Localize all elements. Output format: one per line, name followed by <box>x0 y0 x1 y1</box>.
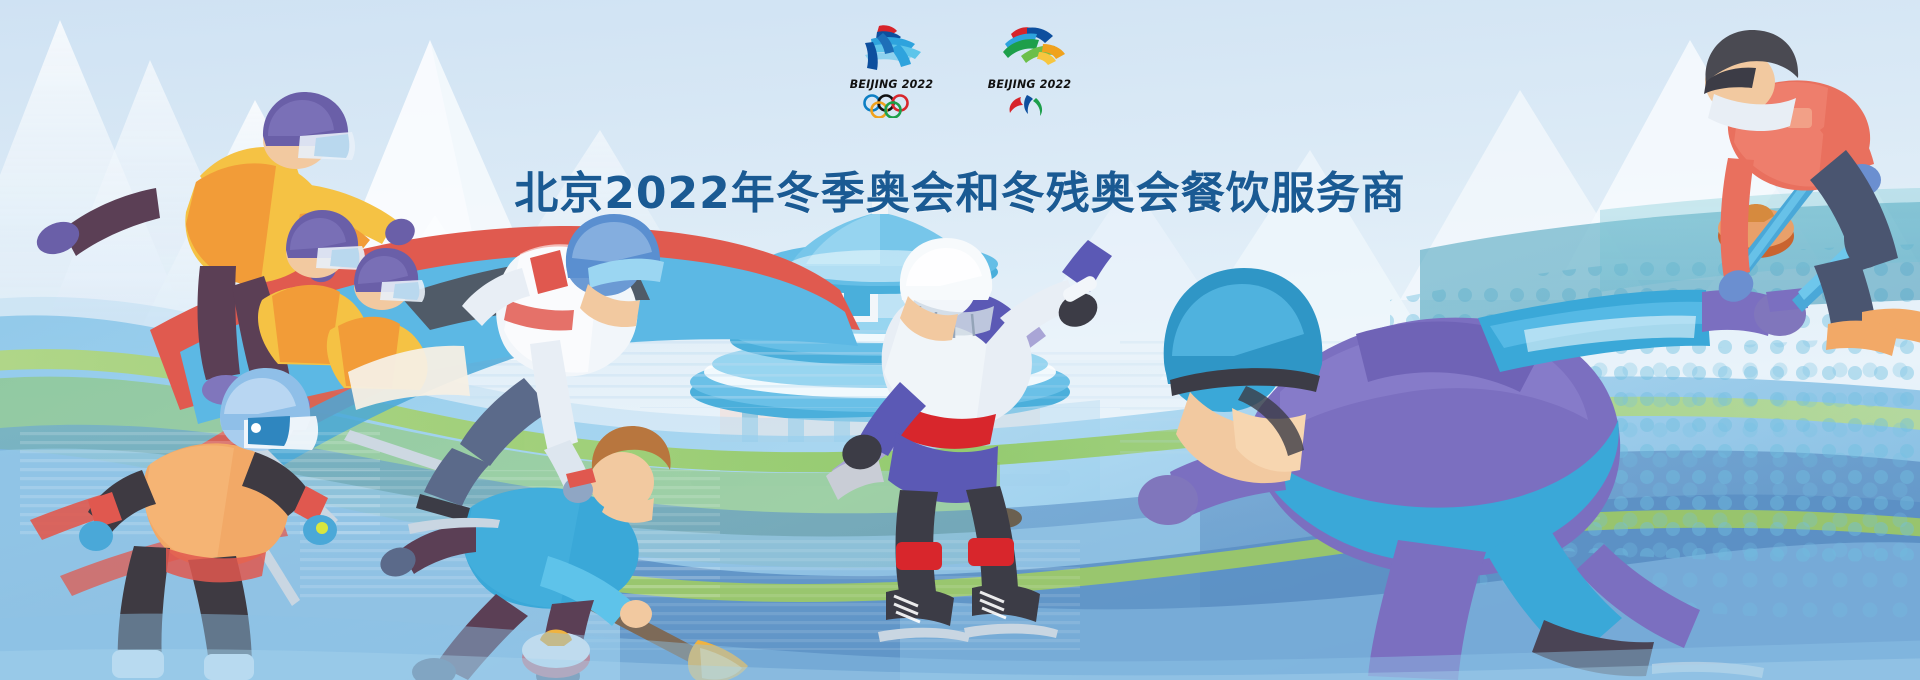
scene-illustration <box>0 0 1920 680</box>
beijing-2022-banner: BEIJING 2022 <box>0 0 1920 680</box>
